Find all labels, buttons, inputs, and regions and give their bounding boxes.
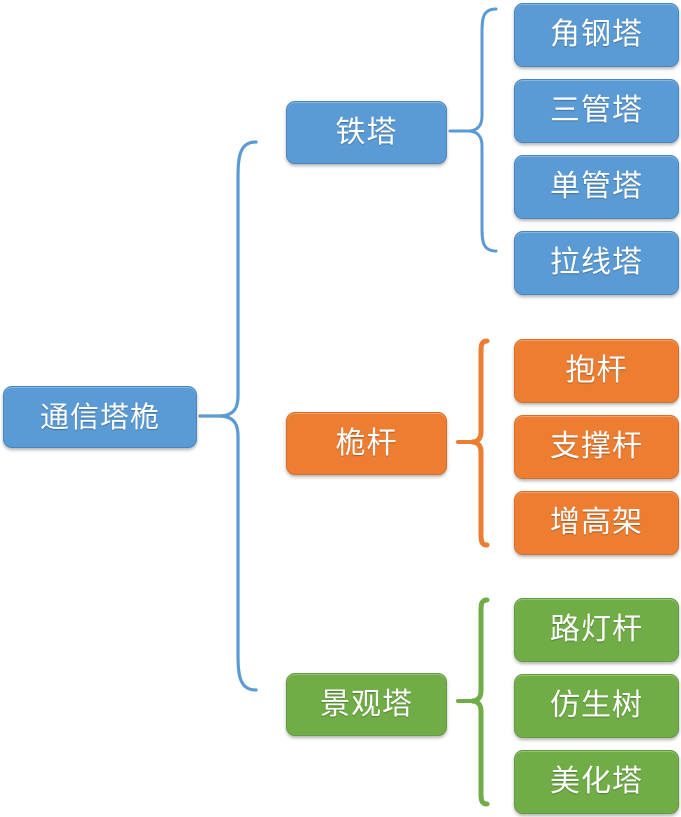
leaf-node-height-extension-frame[interactable]: 增高架 [514, 491, 679, 555]
brace-mast [458, 341, 487, 545]
leaf-node-bionic-tree[interactable]: 仿生树 [514, 674, 679, 738]
leaf-node-single-tube-tower[interactable]: 单管塔 [514, 155, 679, 219]
leaf-node-angle-steel-tower[interactable]: 角钢塔 [514, 3, 679, 67]
leaf-node-support-pole[interactable]: 支撑杆 [514, 415, 679, 479]
mindmap-canvas: 通信塔桅 铁塔 桅杆 景观塔 角钢塔 三管塔 单管塔 拉线塔 抱杆 支撑杆 增高… [0, 0, 681, 817]
root-node[interactable]: 通信塔桅 [3, 386, 197, 448]
branch-node-iron-tower[interactable]: 铁塔 [286, 101, 447, 164]
brace-root [200, 142, 256, 690]
branch-node-mast[interactable]: 桅杆 [286, 412, 447, 475]
leaf-node-pole[interactable]: 抱杆 [514, 339, 679, 403]
brace-iron-tower [450, 9, 496, 251]
leaf-node-guyed-tower[interactable]: 拉线塔 [514, 231, 679, 295]
leaf-node-street-lamp-pole[interactable]: 路灯杆 [514, 598, 679, 662]
brace-scenic [458, 600, 487, 804]
leaf-node-beautified-tower[interactable]: 美化塔 [514, 750, 679, 814]
branch-node-scenic-tower[interactable]: 景观塔 [286, 673, 447, 736]
leaf-node-three-tube-tower[interactable]: 三管塔 [514, 79, 679, 143]
